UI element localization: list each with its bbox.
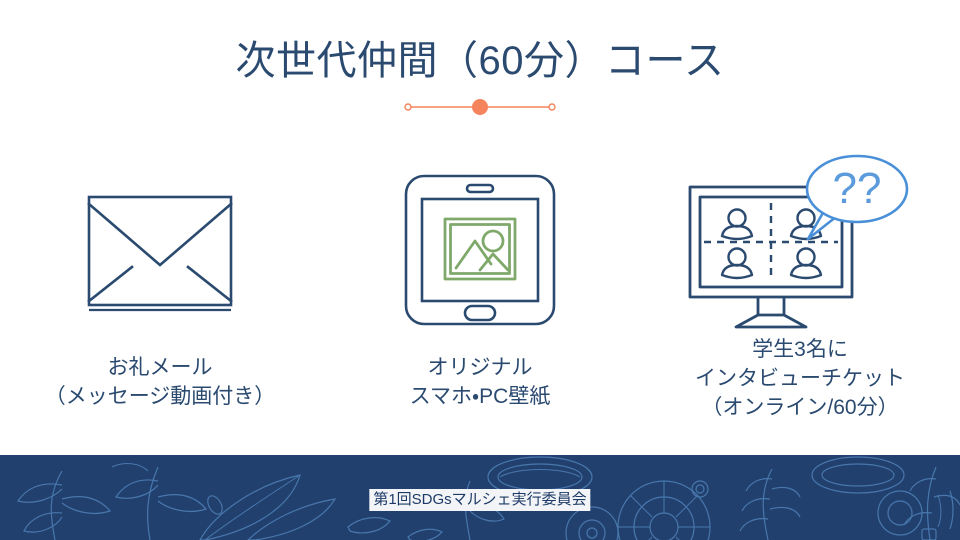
caption-line: お礼メール xyxy=(45,354,276,383)
caption-line: スマホ・PC壁紙 xyxy=(410,383,551,412)
tablet-photo-icon xyxy=(392,150,568,350)
caption-line: 学生3名に xyxy=(695,336,905,365)
caption-line: オリジナル xyxy=(410,354,551,383)
envelope-icon xyxy=(67,150,253,350)
caption-line: （メッセージ動画付き） xyxy=(45,383,276,412)
benefits-row: お礼メール （メッセージ動画付き） xyxy=(0,150,960,440)
slide-root: 次世代仲間（60分）コース xyxy=(0,0,960,540)
benefit-caption-student-interview: 学生3名に インタビューチケット （オンライン/60分） xyxy=(695,336,905,423)
decorative-divider xyxy=(400,96,560,118)
benefit-card-original-wallpaper: オリジナル スマホ・PC壁紙 xyxy=(320,150,640,440)
benefit-card-thank-you-mail: お礼メール （メッセージ動画付き） xyxy=(0,150,320,440)
page-title: 次世代仲間（60分）コース xyxy=(0,38,960,84)
benefit-caption-thank-you-mail: お礼メール （メッセージ動画付き） xyxy=(45,354,276,412)
caption-line: インタビューチケット xyxy=(695,365,905,394)
benefit-caption-original-wallpaper: オリジナル スマホ・PC壁紙 xyxy=(410,354,551,412)
benefit-card-student-interview: ?? 学生3名に インタビューチケット （オンライン/60分） xyxy=(640,150,960,440)
footer-organization-label: 第1回SDGsマルシェ実行委員会 xyxy=(369,489,590,511)
bubble-text: ?? xyxy=(833,164,882,213)
caption-line: （オンライン/60分） xyxy=(695,394,905,423)
monitor-video-call-icon: ?? xyxy=(680,150,920,336)
